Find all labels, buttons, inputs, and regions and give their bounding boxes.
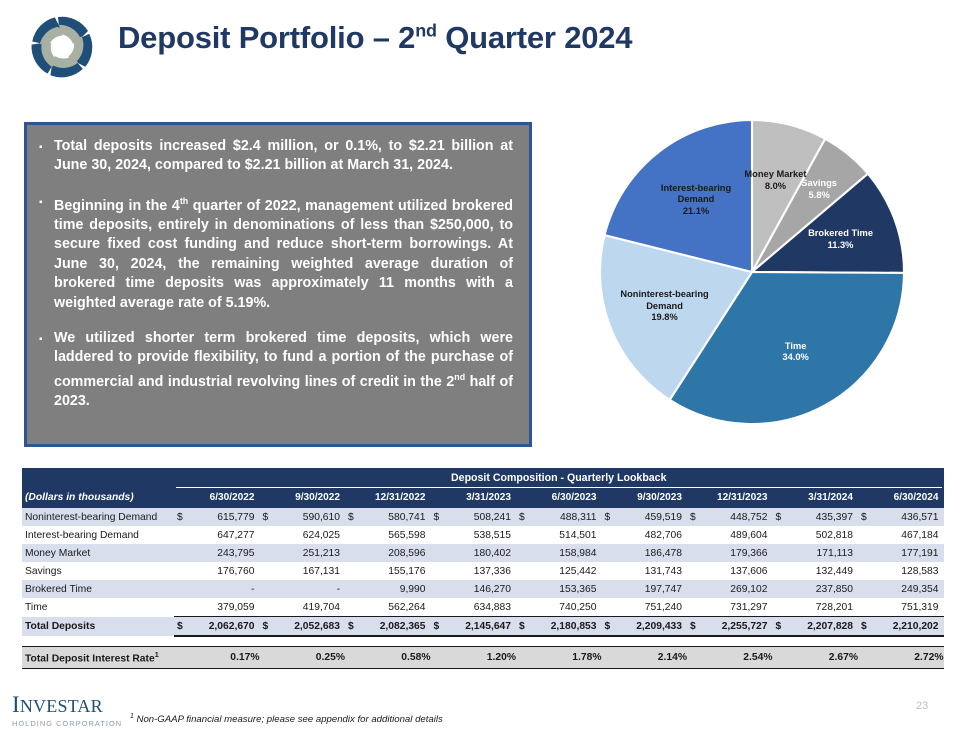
currency-symbol (345, 598, 358, 617)
table-cell: 237,850 (786, 580, 859, 598)
rate-cell: 0.17% (187, 647, 260, 669)
currency-symbol (602, 544, 615, 562)
rate-spacer (773, 647, 786, 669)
table-cell: 508,241 (444, 508, 517, 526)
table-row: Money Market243,795251,213208,596180,402… (22, 544, 944, 562)
investar-pinwheel-icon (12, 8, 112, 86)
table-cell: 488,311 (529, 508, 602, 526)
pie-label-name: Savings (801, 178, 837, 188)
bullet-item: ▪Total deposits increased $2.4 million, … (39, 137, 513, 176)
table-spacer-row (22, 636, 944, 647)
currency-symbol (858, 526, 871, 544)
table-cell: 562,264 (358, 598, 431, 617)
page-title: Deposit Portfolio – 2nd Quarter 2024 (118, 20, 632, 56)
rate-cell: 0.25% (273, 647, 346, 669)
currency-symbol (431, 544, 444, 562)
currency-symbol (687, 562, 700, 580)
table-column-header: 12/31/2022 (345, 492, 431, 508)
currency-symbol (516, 526, 529, 544)
table-supertitle-row: Deposit Composition - Quarterly Lookback (22, 468, 944, 492)
table-row-label: Money Market (22, 544, 174, 562)
rate-spacer (174, 647, 187, 669)
rate-label-text: Total Deposit Interest Rate (25, 654, 155, 665)
rate-spacer (858, 647, 871, 669)
currency-symbol (260, 544, 273, 562)
currency-symbol (516, 544, 529, 562)
rate-footnote-marker: 1 (155, 650, 159, 659)
currency-symbol: $ (773, 508, 786, 526)
rate-cell: 1.20% (444, 647, 517, 669)
currency-symbol (260, 580, 273, 598)
pie-label-value: 8.0% (744, 181, 806, 193)
currency-symbol (602, 526, 615, 544)
pie-slice-label: Time34.0% (782, 341, 808, 364)
currency-symbol (345, 544, 358, 562)
table-cell: 731,297 (700, 598, 773, 617)
currency-symbol: $ (858, 617, 871, 637)
table-cell: 615,779 (187, 508, 260, 526)
table-cell: 167,131 (273, 562, 346, 580)
bullet-text: Total deposits increased $2.4 million, o… (54, 137, 513, 176)
table-cell: - (187, 580, 260, 598)
table-cell: 2,210,202 (871, 617, 944, 637)
currency-symbol: $ (174, 508, 187, 526)
currency-symbol: $ (431, 508, 444, 526)
table-cell: 128,583 (871, 562, 944, 580)
currency-symbol (602, 580, 615, 598)
currency-symbol (260, 598, 273, 617)
table-row: Time379,059419,704562,264634,883740,2507… (22, 598, 944, 617)
currency-symbol: $ (260, 508, 273, 526)
table-cell: 565,598 (358, 526, 431, 544)
table-cell: 436,571 (871, 508, 944, 526)
table-cell: 186,478 (615, 544, 688, 562)
currency-symbol (431, 580, 444, 598)
table-row-label: Noninterest-bearing Demand (22, 508, 174, 526)
table-column-header: 9/30/2022 (260, 492, 346, 508)
pie-label-value: 11.3% (808, 240, 873, 252)
bullet-marker-icon: ▪ (39, 192, 54, 313)
pie-slice-label: Noninterest-bearingDemand19.8% (620, 289, 708, 324)
table-cell: 155,176 (358, 562, 431, 580)
table-units-label: (Dollars in thousands) (22, 492, 174, 508)
table-cell: 197,747 (615, 580, 688, 598)
table-cell: 131,743 (615, 562, 688, 580)
currency-symbol: $ (516, 508, 529, 526)
currency-symbol: $ (345, 508, 358, 526)
table-cell: 180,402 (444, 544, 517, 562)
table-cell: 538,515 (444, 526, 517, 544)
table-cell: 448,752 (700, 508, 773, 526)
currency-symbol (687, 544, 700, 562)
currency-symbol (431, 562, 444, 580)
table-total-row: Total Deposits$2,062,670$2,052,683$2,082… (22, 617, 944, 637)
currency-symbol (345, 562, 358, 580)
table-cell: 580,741 (358, 508, 431, 526)
currency-symbol (773, 562, 786, 580)
table-head: Deposit Composition - Quarterly Lookback… (22, 468, 944, 508)
table-cell: 2,145,647 (444, 617, 517, 637)
currency-symbol (174, 562, 187, 580)
table-cell: 249,354 (871, 580, 944, 598)
slide-header: Deposit Portfolio – 2nd Quarter 2024 (0, 0, 960, 92)
rate-spacer (687, 647, 700, 669)
table-row-label: Time (22, 598, 174, 617)
table-cell: 9,990 (358, 580, 431, 598)
deposit-composition-table: Deposit Composition - Quarterly Lookback… (22, 468, 938, 669)
table-cell: 243,795 (187, 544, 260, 562)
pie-label-name2: Demand (678, 194, 715, 204)
currency-symbol: $ (687, 508, 700, 526)
table-cell: 647,277 (187, 526, 260, 544)
table-row-label: Brokered Time (22, 580, 174, 598)
table-cell: - (273, 580, 346, 598)
table-rate-label: Total Deposit Interest Rate1 (22, 647, 174, 669)
currency-symbol (516, 562, 529, 580)
table-cell: 125,442 (529, 562, 602, 580)
page-title-ordinal: nd (415, 21, 437, 41)
brand-name: INVESTAR (12, 693, 132, 718)
ordinal-suffix: th (180, 196, 188, 206)
table-row-label: Interest-bearing Demand (22, 526, 174, 544)
table-cell: 177,191 (871, 544, 944, 562)
currency-symbol (858, 544, 871, 562)
currency-symbol: $ (516, 617, 529, 637)
rate-spacer (431, 647, 444, 669)
table-total-label: Total Deposits (22, 617, 174, 637)
currency-symbol (174, 598, 187, 617)
table-row: Interest-bearing Demand647,277624,025565… (22, 526, 944, 544)
table-body: Noninterest-bearing Demand$615,779$590,6… (22, 508, 944, 669)
table-column-header: 6/30/2022 (174, 492, 260, 508)
currency-symbol (516, 598, 529, 617)
table-cell: 740,250 (529, 598, 602, 617)
table-cell: 137,606 (700, 562, 773, 580)
deposit-composition-pie-chart: Money Market8.0%Savings5.8%Brokered Time… (590, 100, 950, 450)
table-spacer-cell (22, 636, 944, 647)
currency-symbol: $ (431, 617, 444, 637)
table-cell: 435,397 (786, 508, 859, 526)
currency-symbol (858, 598, 871, 617)
currency-symbol (858, 562, 871, 580)
text-run: We utilized shorter term brokered time d… (54, 330, 513, 390)
currency-symbol (858, 580, 871, 598)
table-row-label: Savings (22, 562, 174, 580)
page-number: 23 (916, 700, 928, 712)
brand-subtitle: HOLDING CORPORATION (12, 719, 132, 728)
page-title-tail: Quarter 2024 (437, 20, 633, 55)
currency-symbol (260, 562, 273, 580)
table-cell: 751,240 (615, 598, 688, 617)
rate-spacer (602, 647, 615, 669)
table-column-header: 3/31/2023 (431, 492, 517, 508)
currency-symbol (345, 580, 358, 598)
currency-symbol (602, 598, 615, 617)
currency-symbol (431, 526, 444, 544)
bullet-text: We utilized shorter term brokered time d… (54, 329, 513, 411)
table-cell: 2,062,670 (187, 617, 260, 637)
table-supertitle: Deposit Composition - Quarterly Lookback (174, 468, 944, 487)
currency-symbol (260, 526, 273, 544)
table-cell: 158,984 (529, 544, 602, 562)
pie-slice-label: Money Market8.0% (744, 169, 806, 192)
table-cell: 171,113 (786, 544, 859, 562)
text-run: Total deposits increased $2.4 million, o… (54, 138, 513, 173)
table-cell: 459,519 (615, 508, 688, 526)
pie-label-name: Money Market (744, 169, 806, 179)
bullet-list: ▪Total deposits increased $2.4 million, … (39, 137, 513, 411)
pie-label-value: 19.8% (620, 312, 708, 324)
table-cell: 467,184 (871, 526, 944, 544)
table-cell: 2,180,853 (529, 617, 602, 637)
highlights-callout-box: ▪Total deposits increased $2.4 million, … (24, 122, 532, 447)
quarterly-lookback-table: Deposit Composition - Quarterly Lookback… (22, 468, 944, 669)
pie-label-value: 5.8% (801, 190, 837, 202)
currency-symbol (602, 562, 615, 580)
table-column-header: 6/30/2024 (858, 492, 944, 508)
currency-symbol (773, 544, 786, 562)
table-cell: 624,025 (273, 526, 346, 544)
rate-spacer (345, 647, 358, 669)
pie-label-name: Brokered Time (808, 228, 873, 238)
currency-symbol (687, 526, 700, 544)
text-run: quarter of 2022, management utilized bro… (54, 198, 513, 311)
table-column-header: 12/31/2023 (687, 492, 773, 508)
currency-symbol (773, 598, 786, 617)
bullet-text: Beginning in the 4th quarter of 2022, ma… (54, 192, 513, 313)
table-cell: 419,704 (273, 598, 346, 617)
pie-slice-label: Savings5.8% (801, 178, 837, 201)
table-cell: 2,207,828 (786, 617, 859, 637)
pie-label-name: Noninterest-bearing (620, 289, 708, 299)
currency-symbol (773, 526, 786, 544)
table-cell: 208,596 (358, 544, 431, 562)
currency-symbol: $ (260, 617, 273, 637)
rate-cell: 2.72% (871, 647, 944, 669)
investar-wordmark: INVESTAR HOLDING CORPORATION (12, 693, 132, 728)
currency-symbol: $ (174, 617, 187, 637)
table-row: Brokered Time--9,990146,270153,365197,74… (22, 580, 944, 598)
table-rate-row: Total Deposit Interest Rate10.17%0.25%0.… (22, 647, 944, 669)
currency-symbol (174, 526, 187, 544)
table-row: Savings176,760167,131155,176137,336125,4… (22, 562, 944, 580)
table-cell: 2,052,683 (273, 617, 346, 637)
pie-svg (590, 100, 950, 450)
currency-symbol (687, 580, 700, 598)
table-cell: 137,336 (444, 562, 517, 580)
currency-symbol: $ (602, 617, 615, 637)
table-cell: 179,366 (700, 544, 773, 562)
bullet-item: ▪Beginning in the 4th quarter of 2022, m… (39, 192, 513, 313)
table-column-header: 6/30/2023 (516, 492, 602, 508)
brand-rest: NVESTAR (20, 696, 103, 716)
table-cell: 146,270 (444, 580, 517, 598)
table-column-header: 3/31/2024 (773, 492, 859, 508)
currency-symbol: $ (773, 617, 786, 637)
footnote-text: Non-GAAP financial measure; please see a… (134, 714, 443, 725)
rate-spacer (516, 647, 529, 669)
table-column-header-row: (Dollars in thousands)6/30/20229/30/2022… (22, 492, 944, 508)
text-run: Beginning in the 4 (54, 198, 180, 214)
table-cell: 132,449 (786, 562, 859, 580)
table-cell: 153,365 (529, 580, 602, 598)
pie-label-name2: Demand (646, 301, 683, 311)
pie-slice-label: Interest-bearingDemand21.1% (661, 183, 731, 218)
bullet-marker-icon: ▪ (39, 137, 54, 176)
pie-slice-group (600, 120, 904, 424)
currency-symbol (174, 580, 187, 598)
supertitle-cell: Deposit Composition - Quarterly Lookback (174, 468, 944, 492)
pie-label-name: Time (785, 341, 807, 351)
table-cell: 751,319 (871, 598, 944, 617)
rate-cell: 2.14% (615, 647, 688, 669)
currency-symbol (174, 544, 187, 562)
table-column-header: 9/30/2023 (602, 492, 688, 508)
rate-cell: 2.54% (700, 647, 773, 669)
brand-initial: I (12, 692, 20, 717)
rate-cell: 1.78% (529, 647, 602, 669)
table-cell: 269,102 (700, 580, 773, 598)
table-cell: 728,201 (786, 598, 859, 617)
pie-label-value: 21.1% (661, 206, 731, 218)
table-cell: 514,501 (529, 526, 602, 544)
rate-cell: 0.58% (358, 647, 431, 669)
currency-symbol: $ (345, 617, 358, 637)
table-cell: 2,255,727 (700, 617, 773, 637)
table-cell: 2,082,365 (358, 617, 431, 637)
supertitle-spacer (22, 468, 174, 492)
table-cell: 634,883 (444, 598, 517, 617)
bullet-item: ▪We utilized shorter term brokered time … (39, 329, 513, 411)
supertitle-rule (176, 487, 942, 488)
table-cell: 482,706 (615, 526, 688, 544)
page-title-main: Deposit Portfolio – 2 (118, 20, 415, 55)
pie-label-value: 34.0% (782, 352, 808, 364)
pie-label-name: Interest-bearing (661, 183, 731, 193)
rate-cell: 2.67% (786, 647, 859, 669)
currency-symbol (773, 580, 786, 598)
currency-symbol: $ (602, 508, 615, 526)
currency-symbol: $ (858, 508, 871, 526)
ordinal-suffix: nd (454, 372, 465, 382)
table-cell: 502,818 (786, 526, 859, 544)
table-row: Noninterest-bearing Demand$615,779$590,6… (22, 508, 944, 526)
currency-symbol (431, 598, 444, 617)
table-cell: 251,213 (273, 544, 346, 562)
pie-slice-label: Brokered Time11.3% (808, 228, 873, 251)
table-cell: 2,209,433 (615, 617, 688, 637)
table-cell: 590,610 (273, 508, 346, 526)
currency-symbol (345, 526, 358, 544)
currency-symbol (516, 580, 529, 598)
bullet-marker-icon: ▪ (39, 329, 54, 411)
footnote: 1 Non-GAAP financial measure; please see… (130, 713, 443, 725)
table-cell: 176,760 (187, 562, 260, 580)
table-cell: 489,604 (700, 526, 773, 544)
currency-symbol: $ (687, 617, 700, 637)
rate-spacer (260, 647, 273, 669)
currency-symbol (687, 598, 700, 617)
table-cell: 379,059 (187, 598, 260, 617)
